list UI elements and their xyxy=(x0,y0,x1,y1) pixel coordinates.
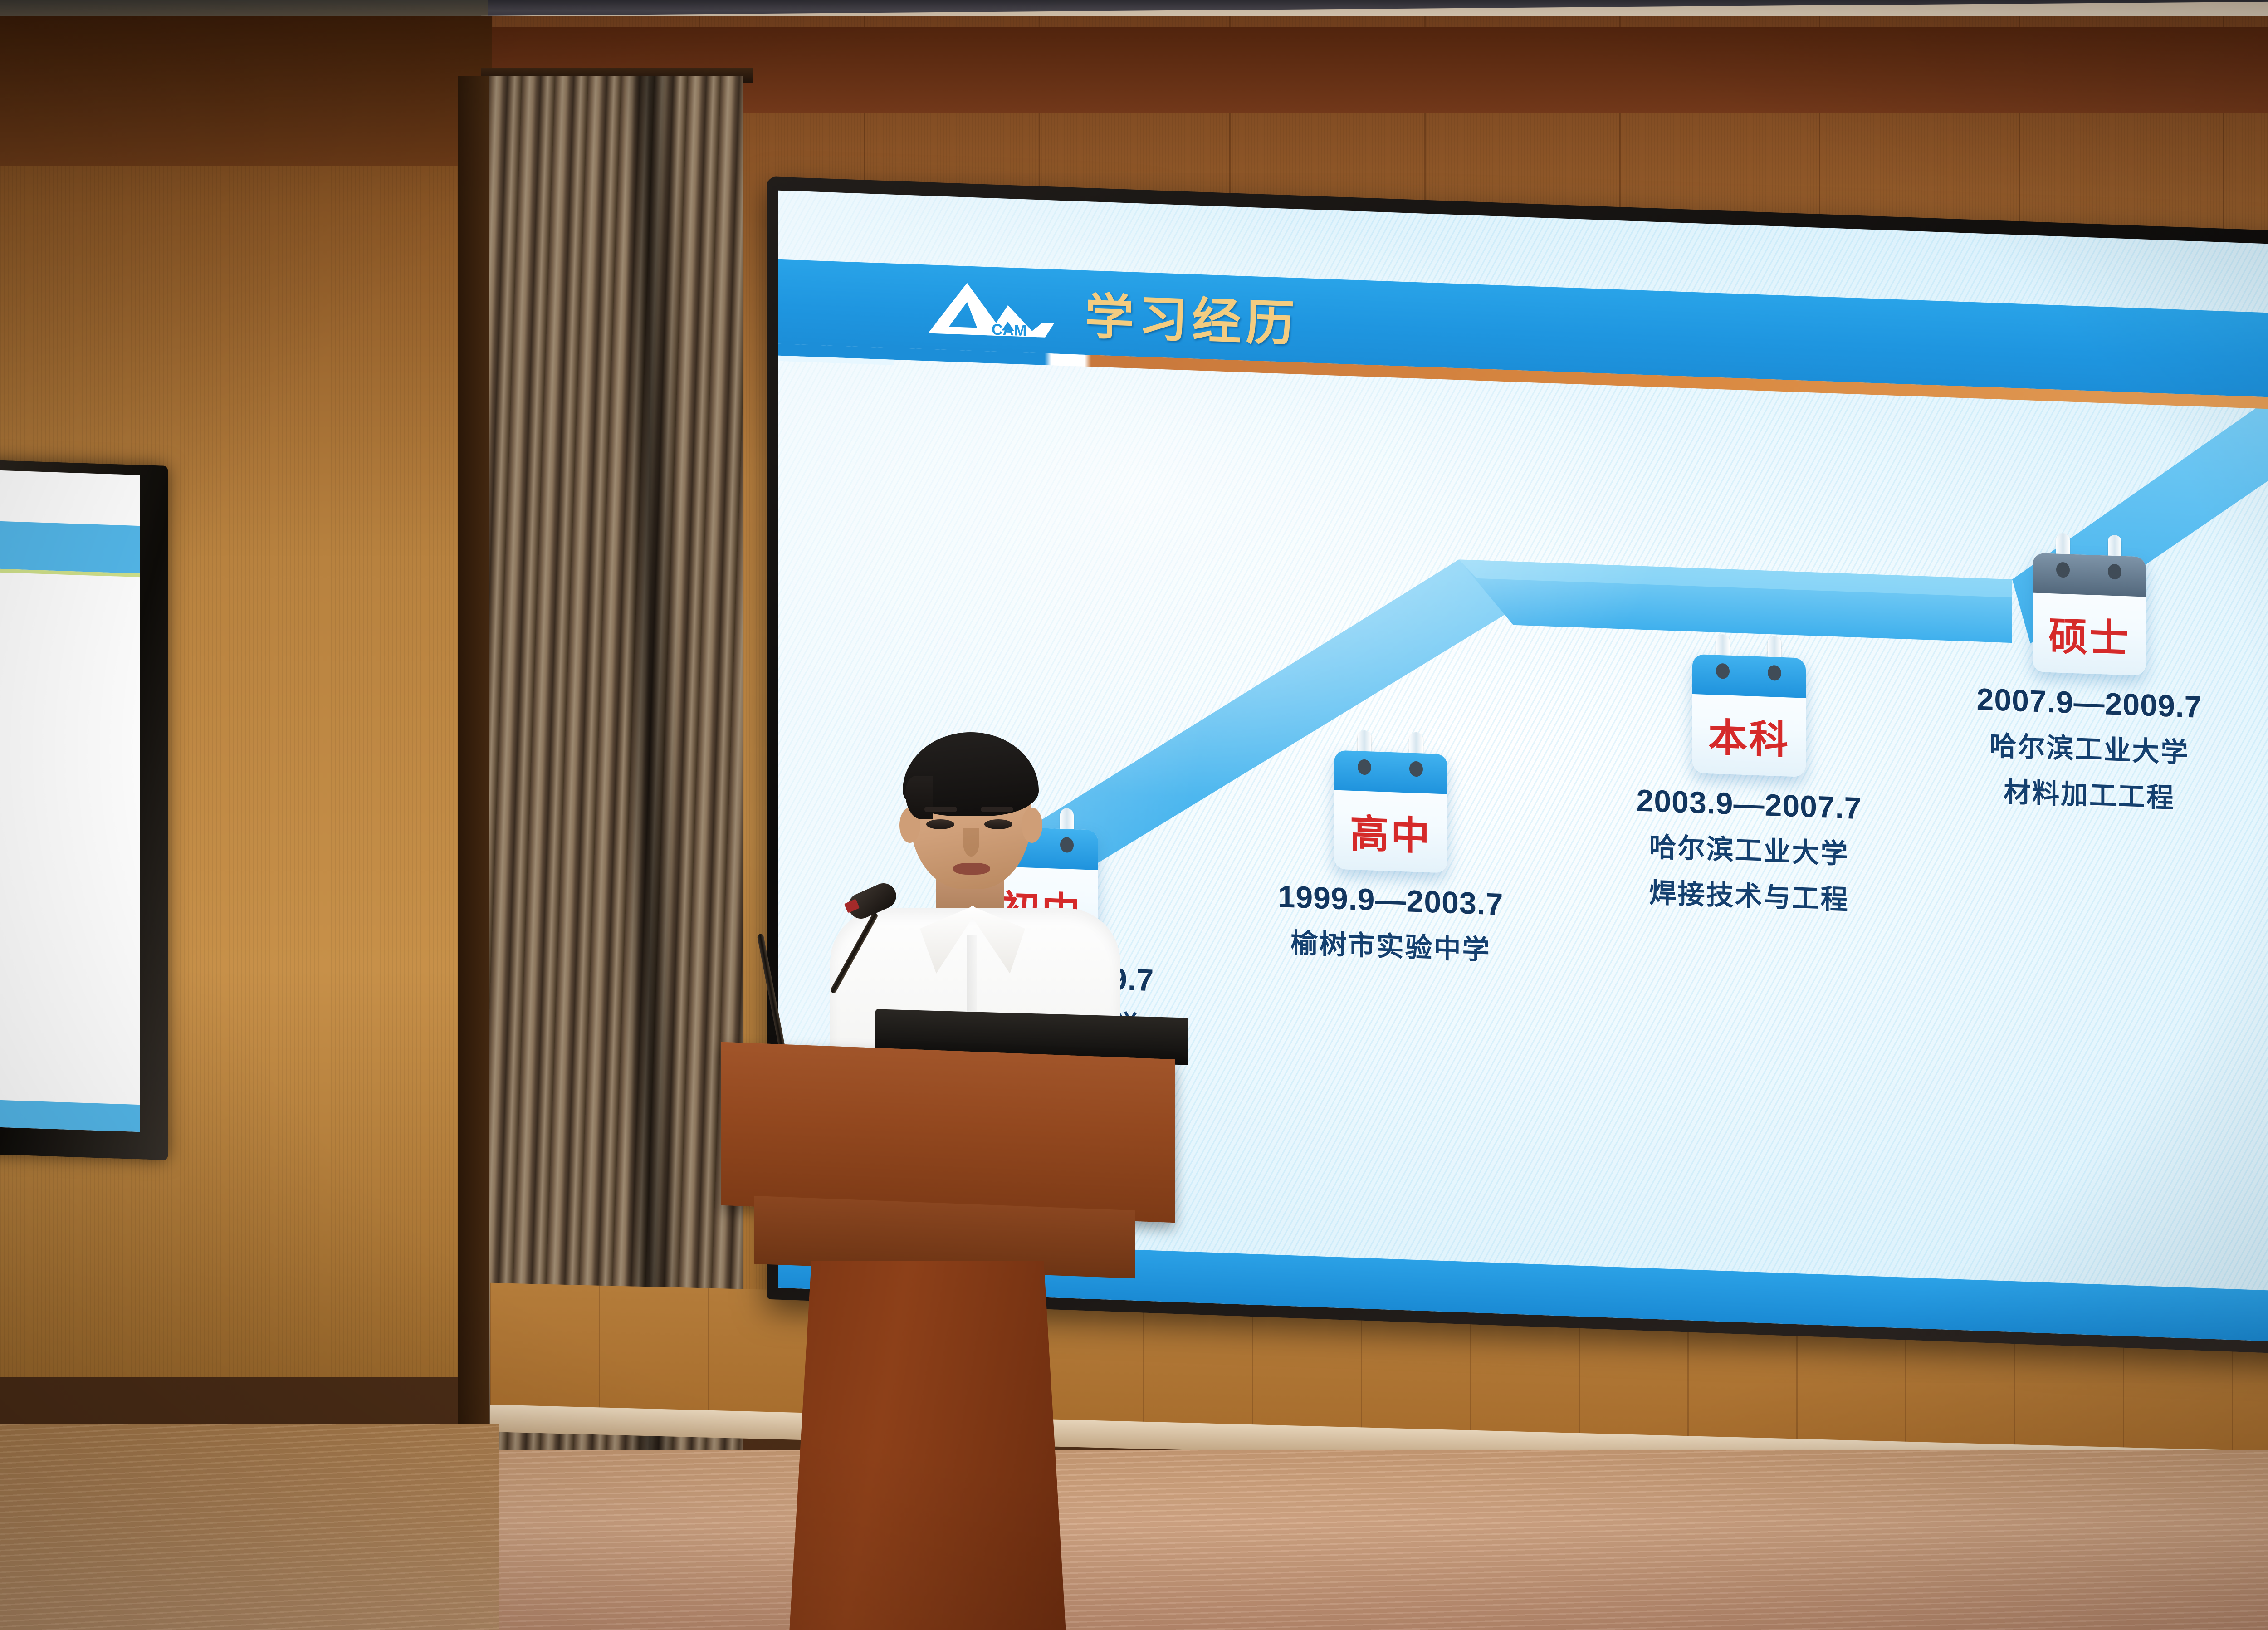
calendar-hole-left xyxy=(2056,562,2070,578)
side-monitor-text-1: 3.7 xyxy=(0,675,3,714)
slide-title: 学习经历 xyxy=(1085,277,1299,356)
svg-text:CAM: CAM xyxy=(992,321,1026,340)
calendar-hole-right xyxy=(1768,665,1781,681)
mouth xyxy=(953,863,990,875)
side-monitor-screen: 3.7 学 xyxy=(0,470,140,1132)
calendar-icon-3: 本科 xyxy=(1692,654,1806,777)
conference-hall-scene: 3.7 学 xyxy=(0,0,2268,1630)
milestone-2: 高中 1999.9—2003.7 榆树市实验中学 xyxy=(1232,747,1549,970)
eye-right xyxy=(984,819,1012,829)
eye-left xyxy=(926,819,954,829)
calendar-hole-right xyxy=(1409,761,1423,777)
calendar-hole-left xyxy=(1716,663,1730,679)
milestone-3-line-1: 哈尔滨工业大学 xyxy=(1590,823,1908,874)
wall-upper-dark-band xyxy=(488,27,2268,113)
side-monitor: 3.7 学 xyxy=(0,460,168,1160)
milestone-2-label: 高中 xyxy=(1334,801,1447,862)
eyebrow-left xyxy=(924,807,957,812)
milestone-4-line-1: 哈尔滨工业大学 xyxy=(1931,722,2248,773)
milestone-3: 本科 2003.9—2007.7 哈尔滨工业大学 焊接技术与工程 xyxy=(1590,651,1908,920)
milestone-4: 硕士 2007.9—2009.7 哈尔滨工业大学 材料加工工程 xyxy=(1931,549,2248,818)
milestone-4-date: 2007.9—2009.7 xyxy=(1931,680,2248,727)
milestone-2-date: 1999.9—2003.7 xyxy=(1232,877,1549,924)
milestone-3-date: 2003.9—2007.7 xyxy=(1590,781,1908,828)
calendar-header xyxy=(1692,654,1806,698)
calendar-hole-left xyxy=(1358,759,1371,775)
calendar-hole-right xyxy=(2108,564,2121,580)
podium-column xyxy=(789,1261,1066,1630)
cam-mountain-logo-icon: CAM xyxy=(924,275,1060,343)
side-monitor-bottom-band xyxy=(0,1099,140,1132)
podium-top xyxy=(721,1042,1175,1223)
side-monitor-blue-band xyxy=(0,520,140,573)
eyebrow-right xyxy=(981,807,1013,812)
calendar-icon-4: 硕士 xyxy=(2033,553,2146,676)
calendar-icon-2: 高中 xyxy=(1334,750,1447,873)
milestone-4-label: 硕士 xyxy=(2033,604,2146,665)
stage-floor-left xyxy=(0,1424,499,1630)
hair xyxy=(903,732,1039,816)
left-wall-shadow-band xyxy=(0,16,492,166)
calendar-header xyxy=(1334,750,1447,794)
milestone-3-label: 本科 xyxy=(1692,705,1806,766)
calendar-header xyxy=(2033,553,2146,597)
nose xyxy=(963,828,979,857)
ear-right xyxy=(1022,808,1042,843)
